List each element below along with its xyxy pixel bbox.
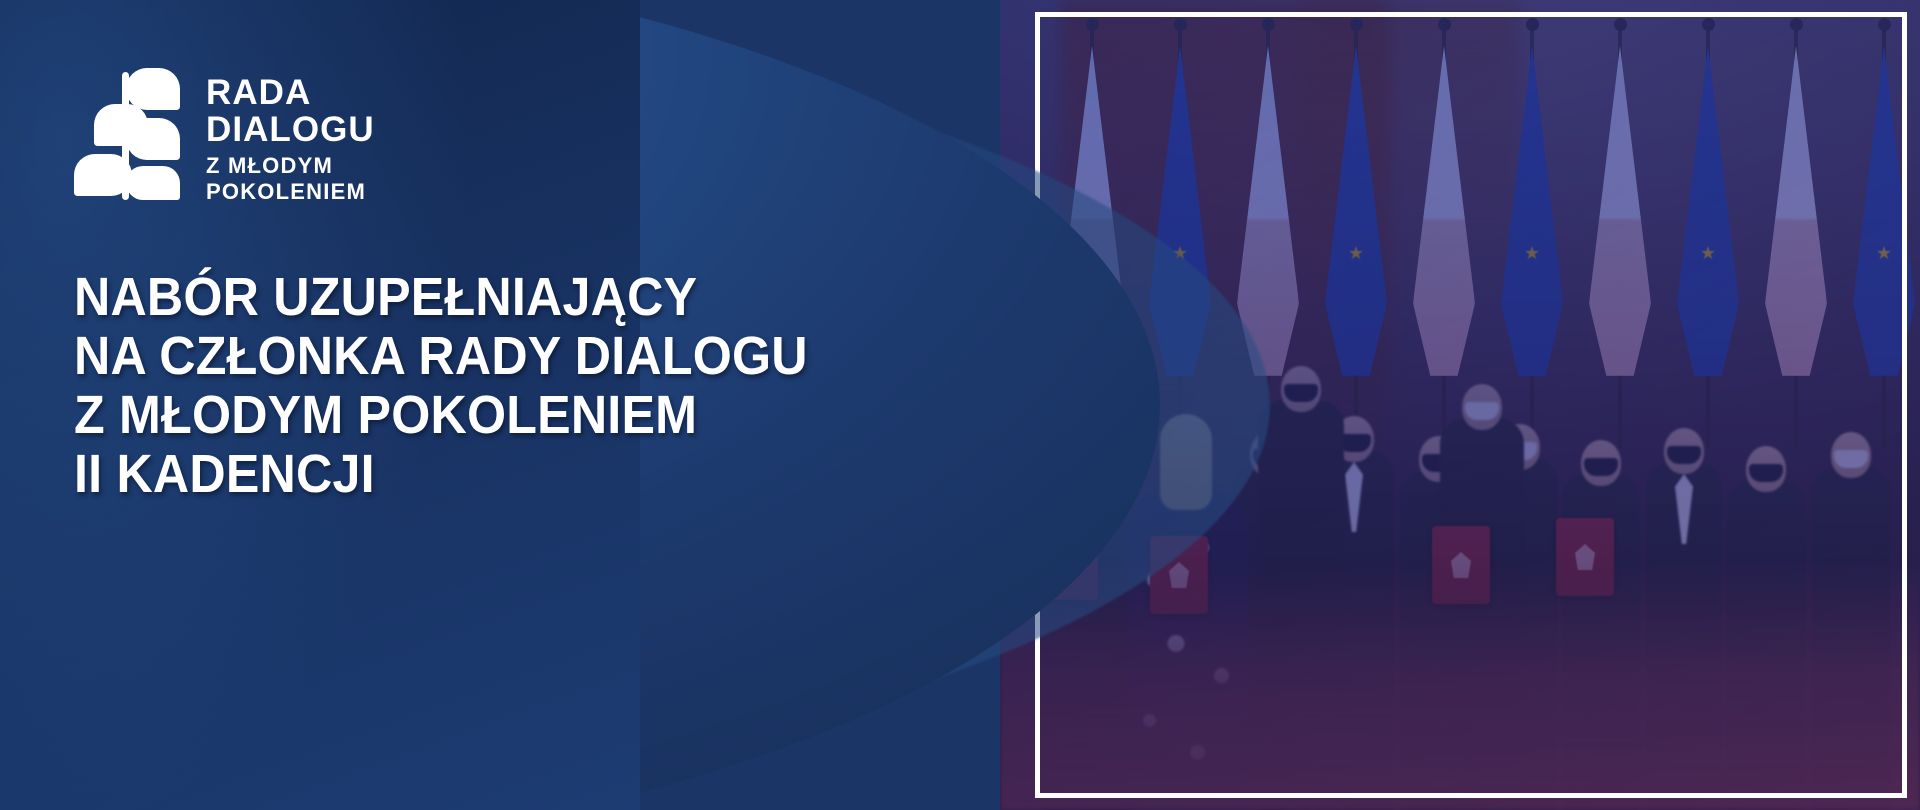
speech-bubble-icon: [126, 68, 180, 110]
logo-line-rada: RADA: [206, 74, 375, 111]
speech-bubble-plant-mark: [74, 66, 180, 200]
logo: RADA DIALOGU Z MŁODYM POKOLENIEM: [74, 66, 375, 205]
speech-bubble-icon: [126, 166, 180, 200]
logo-wordmark: RADA DIALOGU Z MŁODYM POKOLENIEM: [206, 66, 375, 205]
headline-line-4: II KADENCJI: [74, 445, 808, 504]
logo-line-dialogu: DIALOGU: [206, 111, 375, 148]
logo-line-pokoleniem: POKOLENIEM: [206, 179, 375, 205]
headline-line-1: NABÓR UZUPEŁNIAJĄCY: [74, 268, 808, 327]
headline: NABÓR UZUPEŁNIAJĄCY NA CZŁONKA RADY DIAL…: [74, 268, 808, 504]
speech-bubble-icon: [74, 154, 132, 196]
promo-banner: ★ ★ ★ ★ ★: [0, 0, 1920, 810]
speech-bubble-icon: [126, 118, 180, 160]
headline-line-2: NA CZŁONKA RADY DIALOGU: [74, 327, 808, 386]
headline-line-3: Z MŁODYM POKOLENIEM: [74, 386, 808, 445]
logo-line-zmlodym: Z MŁODYM: [206, 153, 375, 179]
